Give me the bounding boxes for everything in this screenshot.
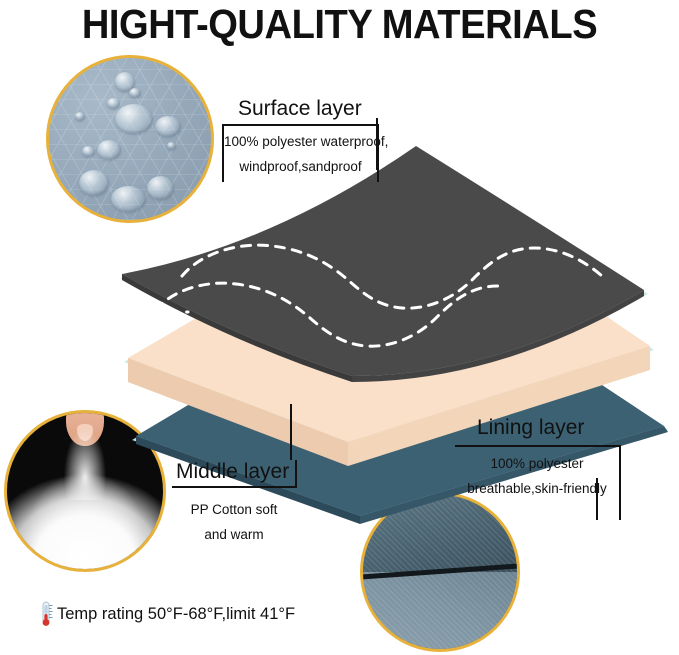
lining-desc-line-1: 100% polyester (455, 451, 619, 476)
lining-layer-title: Lining layer (477, 416, 584, 440)
lining-desc-line-2: breathable,skin-friendly (455, 476, 619, 501)
page-title: HIGHT-QUALITY MATERIALS (24, 0, 655, 48)
lining-layer-description: 100% polyester breathable,skin-friendly (455, 445, 621, 520)
surface-layer-description: 100% polyester waterproof, windproof,san… (222, 124, 379, 182)
surface-layer-title: Surface layer (238, 97, 362, 121)
water-drop (107, 98, 120, 109)
temp-rating-row: Temp rating 50°F-68°F,limit 41°F (38, 601, 295, 627)
middle-layer-description: PP Cotton soft and warm (172, 494, 296, 550)
middle-desc-line-1: PP Cotton soft (172, 497, 296, 522)
temp-rating-text: Temp rating 50°F-68°F,limit 41°F (57, 605, 295, 624)
thermometer-icon (38, 601, 54, 627)
water-drop (82, 146, 95, 157)
materials-infographic: HIGHT-QUALITY MATERIALS (0, 0, 679, 655)
water-drop (97, 140, 121, 160)
middle-layer-title: Middle layer (172, 460, 297, 488)
middle-desc-line-2: and warm (172, 522, 296, 547)
surface-desc-line-2: windproof,sandproof (224, 154, 377, 179)
water-drop (79, 170, 109, 196)
water-drop (75, 112, 85, 121)
water-drop (129, 88, 141, 98)
leader-line-middle (290, 404, 292, 460)
surface-desc-line-1: 100% polyester waterproof, (224, 129, 377, 154)
